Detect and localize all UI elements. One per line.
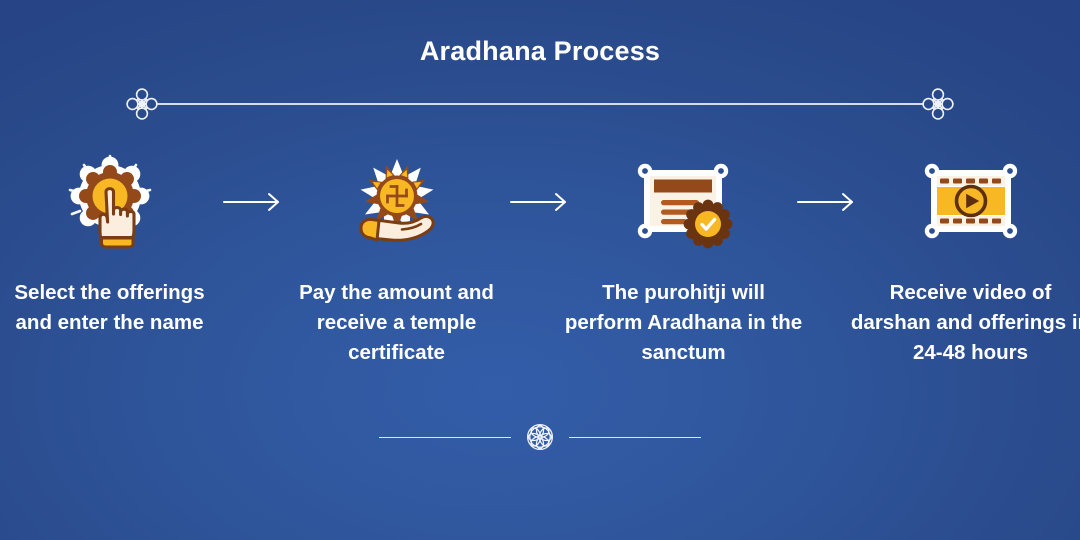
process-step-3: The purohitji will perform Aradhana in t… [577, 150, 790, 368]
step-caption: Select the offerings and enter the name [3, 278, 216, 338]
bottom-divider [0, 420, 1080, 454]
process-step-1: Select the offerings and enter the name [3, 150, 216, 338]
rosette-flower-icon [523, 420, 557, 454]
ornament-knot-icon [923, 89, 953, 119]
arrow-right-icon [503, 150, 577, 254]
divider-line-left [379, 437, 511, 438]
process-steps: Select the offerings and enter the name [0, 150, 1080, 368]
film-strip-play-icon [916, 150, 1026, 254]
aradhana-process-infographic: Aradhana Process [0, 0, 1080, 540]
arrow-right-icon [790, 150, 864, 254]
certificate-seal-icon [629, 150, 739, 254]
arrow-right-icon [216, 150, 290, 254]
step-caption: Receive video of darshan and offerings i… [846, 278, 1080, 368]
process-step-4: Receive video of darshan and offerings i… [864, 150, 1077, 368]
step-caption: Pay the amount and receive a temple cert… [290, 278, 503, 368]
page-title: Aradhana Process [0, 36, 1080, 67]
step-caption: The purohitji will perform Aradhana in t… [559, 278, 809, 368]
tap-offering-sun-hand-icon [55, 150, 165, 254]
divider-line-right [569, 437, 701, 438]
process-step-2: Pay the amount and receive a temple cert… [290, 150, 503, 368]
top-divider [120, 88, 960, 120]
hand-coin-swastika-icon [342, 150, 452, 254]
ornament-knot-icon [127, 89, 157, 119]
